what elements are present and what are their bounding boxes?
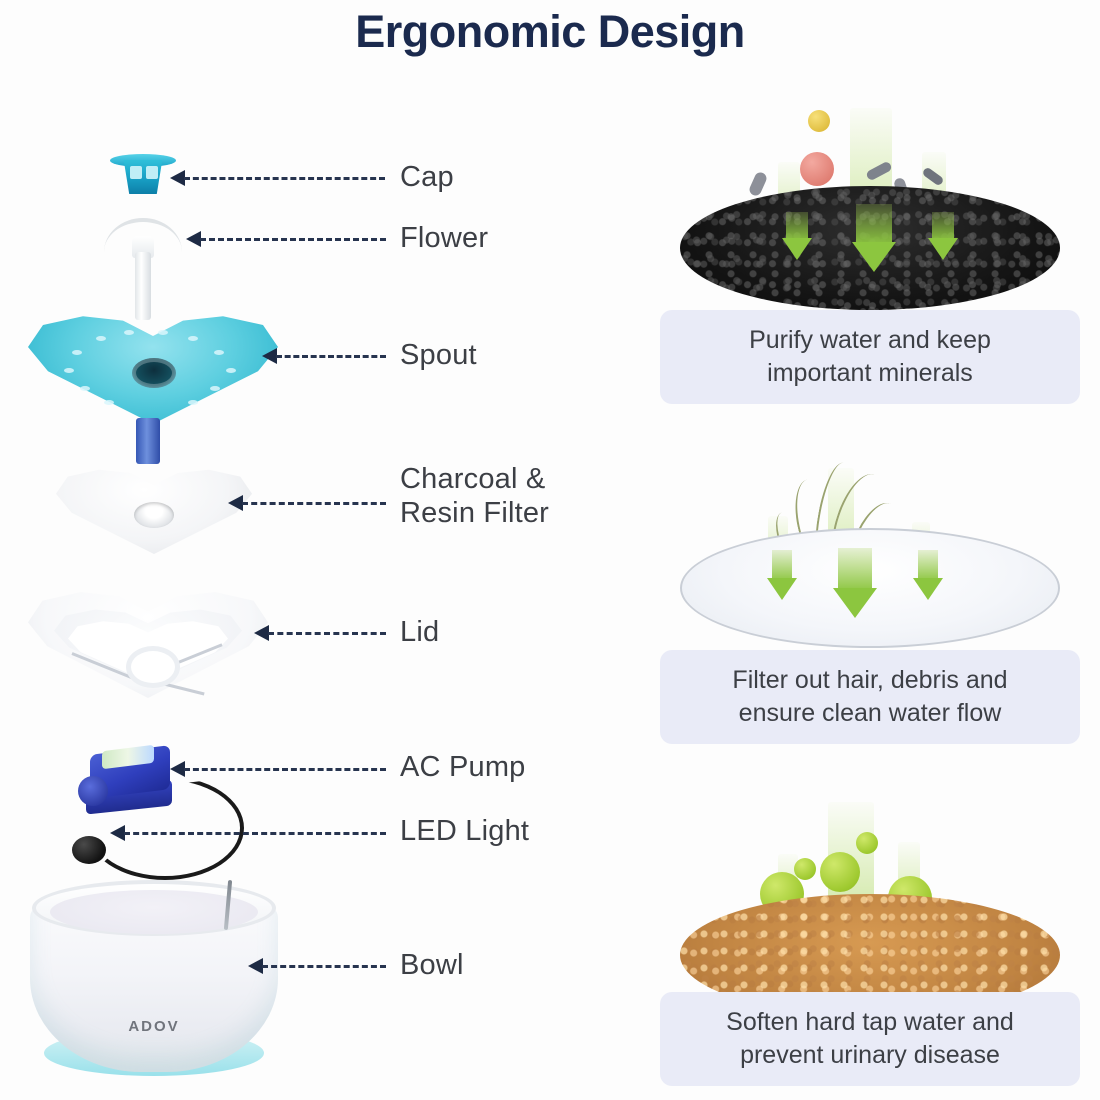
spout-perforation (214, 350, 224, 355)
spout-perforation (124, 330, 134, 335)
connector-spout (262, 355, 386, 358)
arrowhead-icon (254, 625, 269, 641)
spout-perforation (72, 350, 82, 355)
dashed-line (200, 238, 386, 241)
label-charcoal-resin-filter: Charcoal & Resin Filter (400, 462, 549, 530)
feature-charcoal-caption: Purify water and keep important minerals (660, 310, 1080, 404)
flow-arrow-head (833, 588, 877, 618)
feature-mesh-art (660, 438, 1080, 650)
feature-mesh: Filter out hair, debris and ensure clean… (660, 438, 1080, 744)
flow-arrow-head (782, 238, 812, 260)
spout-perforation (80, 386, 90, 391)
germ-particle (800, 152, 834, 186)
bowl-brand-text: ADOV (30, 1018, 278, 1035)
debris-particle (748, 171, 769, 198)
part-filter-illustration (56, 468, 252, 560)
spout-perforation (210, 386, 220, 391)
arrowhead-icon (186, 231, 201, 247)
resin-particle (856, 832, 878, 854)
feature-charcoal-art (660, 100, 1080, 310)
spout-perforation (64, 368, 74, 373)
connector-led-light (110, 832, 386, 835)
spout-perforation (188, 400, 198, 405)
arrowhead-icon (262, 348, 277, 364)
connector-flower (186, 238, 386, 241)
led-light-module (72, 836, 106, 864)
flow-arrow-head (767, 578, 797, 600)
connector-cap (170, 177, 385, 180)
feature-resin: Soften hard tap water and prevent urinar… (660, 780, 1080, 1086)
part-bowl-illustration: ADOV (30, 880, 280, 1080)
arrowhead-icon (170, 170, 185, 186)
part-spout-illustration (28, 314, 278, 466)
part-lid-illustration (28, 590, 268, 710)
arrowhead-icon (110, 825, 125, 841)
feature-resin-art (660, 780, 1080, 992)
arrowhead-icon (248, 958, 263, 974)
dashed-line (262, 965, 386, 968)
infographic-page: Ergonomic Design Cap Flower (0, 0, 1100, 1100)
spout-perforation (226, 368, 236, 373)
spout-perforation (104, 400, 114, 405)
dashed-line (124, 832, 386, 835)
label-ac-pump: AC Pump (400, 750, 526, 784)
flow-arrow-head (928, 238, 958, 260)
spout-perforation (158, 330, 168, 335)
spout-perforation (188, 336, 198, 341)
dashed-line (268, 632, 386, 635)
lid-center-ring (126, 646, 180, 688)
feature-resin-caption: Soften hard tap water and prevent urinar… (660, 992, 1080, 1086)
label-spout: Spout (400, 338, 477, 372)
dashed-line (276, 355, 386, 358)
label-cap: Cap (400, 160, 454, 194)
label-flower: Flower (400, 221, 488, 255)
label-bowl: Bowl (400, 948, 464, 982)
germ-particle (808, 110, 830, 132)
page-title: Ergonomic Design (0, 6, 1100, 58)
label-led-light: LED Light (400, 814, 529, 848)
connector-ac-pump (170, 768, 386, 771)
dashed-line (242, 502, 386, 505)
exploded-view-column: Cap Flower (0, 90, 640, 1100)
flower-stem-shape (135, 252, 151, 320)
connector-bowl (248, 965, 386, 968)
cap-slot-right (146, 166, 158, 179)
resin-particle (794, 858, 816, 880)
spout-perforation (96, 336, 106, 341)
part-pump-illustration (72, 740, 252, 880)
label-lid: Lid (400, 615, 439, 649)
cap-slot-left (130, 166, 142, 179)
feature-mesh-caption: Filter out hair, debris and ensure clean… (660, 650, 1080, 744)
flow-arrow-head (852, 242, 896, 272)
dashed-line (184, 768, 386, 771)
connector-lid (254, 632, 386, 635)
feature-charcoal: Purify water and keep important minerals (660, 100, 1080, 404)
filter-center-hole (134, 502, 174, 528)
part-flower-illustration (104, 218, 184, 328)
resin-particle (820, 852, 860, 892)
pump-intake-shape (78, 776, 108, 806)
flow-arrow-stem (838, 548, 872, 592)
spout-tube-shape (136, 418, 160, 464)
flow-arrow-stem (856, 204, 892, 246)
arrowhead-icon (170, 761, 185, 777)
connector-filter (228, 502, 386, 505)
cap-body-shape (120, 160, 166, 194)
arrowhead-icon (228, 495, 243, 511)
spout-center-hole (132, 358, 176, 388)
flow-arrow-head (913, 578, 943, 600)
features-column: Purify water and keep important minerals (640, 90, 1100, 1100)
dashed-line (184, 177, 385, 180)
